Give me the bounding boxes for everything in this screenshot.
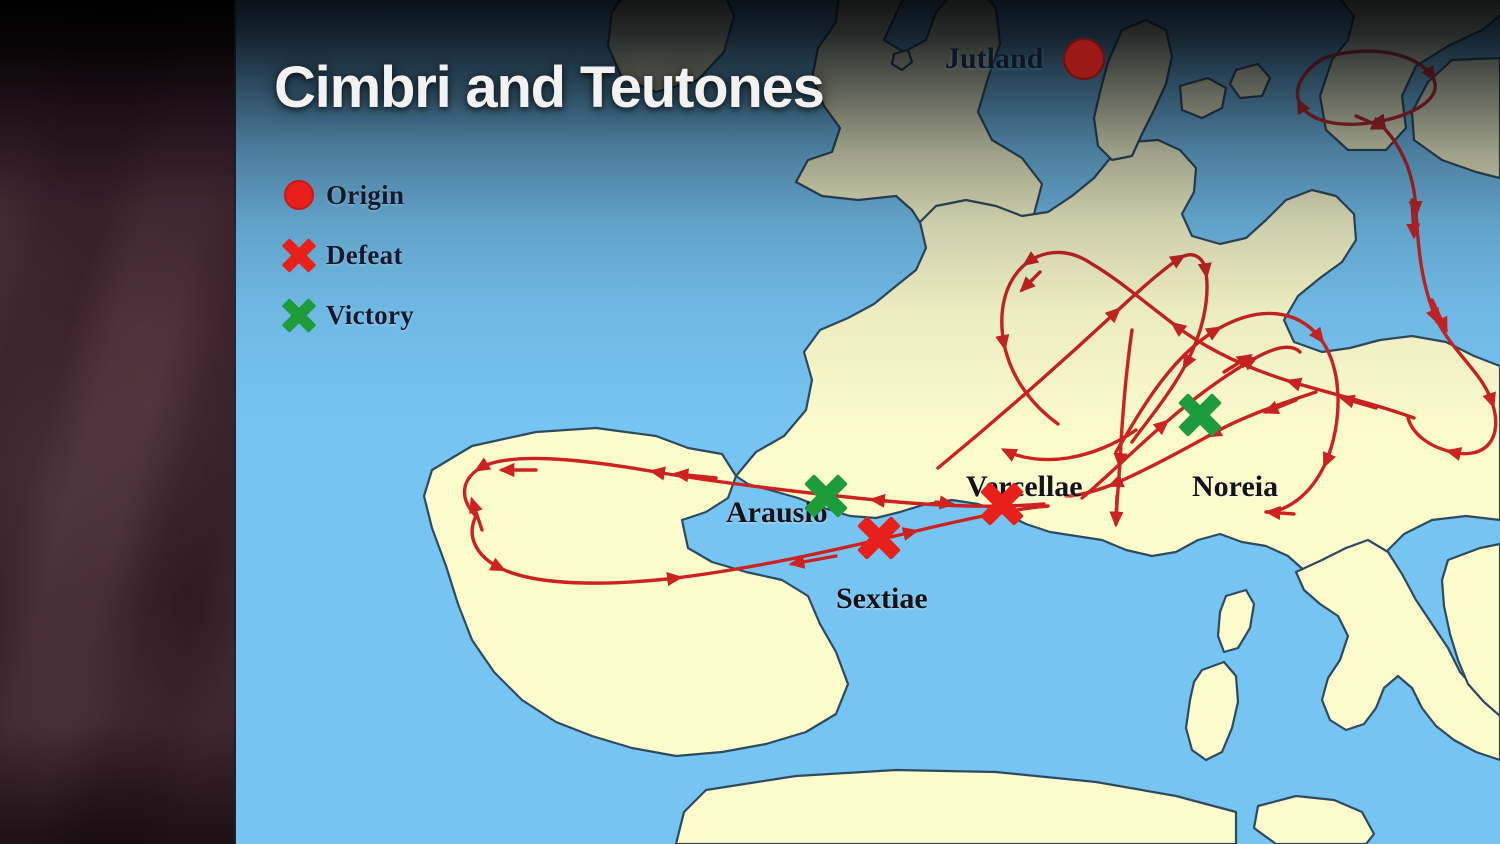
origin-circle-icon xyxy=(272,180,326,210)
legend-label-defeat: Defeat xyxy=(326,240,403,271)
sidebar-bottom-fade xyxy=(0,724,236,844)
sidebar-top-fade xyxy=(0,0,236,330)
legend-label-origin: Origin xyxy=(326,180,404,211)
defeat-x-icon xyxy=(272,238,326,272)
legend-label-victory: Victory xyxy=(326,300,414,331)
slide-canvas: Cimbri and Teutones Origin Defeat Victor… xyxy=(0,0,1500,844)
map-label-sextiae: Sextiae xyxy=(836,582,928,616)
map-label-jutland: Jutland xyxy=(945,42,1043,76)
decorative-sidebar-panel xyxy=(0,0,236,844)
legend-item-victory: Victory xyxy=(272,285,414,345)
europe-map-svg xyxy=(236,0,1500,844)
map-figure xyxy=(236,0,1500,844)
legend-item-defeat: Defeat xyxy=(272,225,414,285)
map-label-noreia: Noreia xyxy=(1192,470,1278,504)
legend-item-origin: Origin xyxy=(272,165,414,225)
page-title: Cimbri and Teutones xyxy=(274,54,824,121)
origin-marker-jutland xyxy=(1063,38,1105,80)
victory-x-icon xyxy=(272,298,326,332)
legend: Origin Defeat Victory xyxy=(272,165,414,345)
